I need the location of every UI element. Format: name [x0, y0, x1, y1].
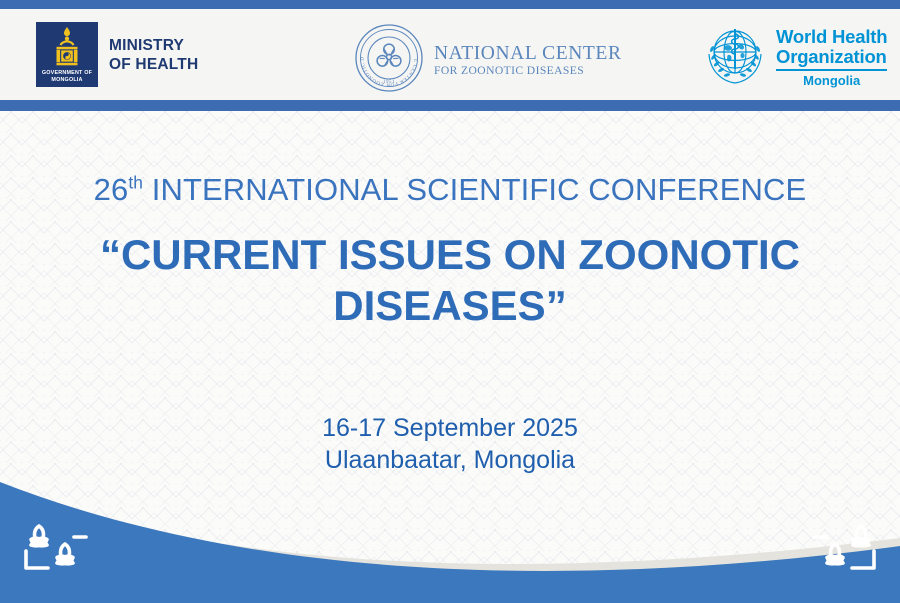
who-country-label: Mongolia	[776, 73, 887, 88]
mongolia-state-emblem-icon: GOVERNMENT OF MONGOLIA	[36, 22, 98, 87]
nczd-title: NATIONAL CENTER	[434, 44, 622, 64]
event-dates: 16-17 September 2025	[0, 412, 900, 444]
nczd-seal-icon: NATIONAL CENTER FOR ZOONOTIC DISEASES 19…	[352, 21, 428, 100]
state-emblem-caption: GOVERNMENT OF MONGOLIA	[36, 70, 98, 84]
event-details: 16-17 September 2025 Ulaanbaatar, Mongol…	[0, 412, 900, 476]
ministry-of-health-name: MINISTRY OF HEALTH	[109, 36, 198, 74]
page-title: “CURRENT ISSUES ON ZOONOTIC DISEASES”	[0, 229, 900, 331]
who-wordmark: World Health Organization Mongolia	[776, 27, 887, 88]
top-accent-rule	[0, 0, 900, 9]
header-divider-rule	[0, 100, 900, 111]
conference-ordinal: 26	[94, 172, 129, 207]
decorative-wave-footer	[0, 468, 900, 603]
who-name: World Health Organization	[776, 27, 887, 67]
nczd-wordmark: NATIONAL CENTER FOR ZOONOTIC DISEASES	[434, 44, 622, 78]
crest-line-2: MONGOLIA	[51, 77, 82, 83]
who-divider-rule	[776, 69, 887, 71]
who-name-line-1: World Health	[776, 26, 887, 47]
svg-text:1951: 1951	[383, 80, 395, 85]
national-center-zoonotic-diseases-logo: NATIONAL CENTER FOR ZOONOTIC DISEASES 19…	[352, 21, 622, 100]
conference-ordinal-suffix: th	[128, 173, 143, 193]
ministry-name-line-1: MINISTRY	[109, 37, 184, 54]
who-name-line-2: Organization	[776, 46, 887, 67]
crest-line-1: GOVERNMENT OF	[42, 70, 92, 76]
ministry-name-line-2: OF HEALTH	[109, 56, 198, 73]
mongolian-knot-ornament-right	[808, 515, 882, 577]
conference-subtitle-text: INTERNATIONAL SCIENTIFIC CONFERENCE	[152, 172, 807, 207]
conference-title-slide: GOVERNMENT OF MONGOLIA MINISTRY OF HEALT…	[0, 0, 900, 603]
who-logo: World Health Organization Mongolia	[701, 20, 887, 95]
nczd-subtitle: FOR ZOONOTIC DISEASES	[434, 65, 622, 77]
who-emblem-icon	[701, 20, 769, 95]
title-block: 26th INTERNATIONAL SCIENTIFIC CONFERENCE…	[0, 172, 900, 331]
mongolian-knot-ornament-left	[18, 515, 92, 577]
conference-subtitle: 26th INTERNATIONAL SCIENTIFIC CONFERENCE	[0, 172, 900, 208]
ministry-of-health-logo: GOVERNMENT OF MONGOLIA MINISTRY OF HEALT…	[36, 22, 198, 87]
